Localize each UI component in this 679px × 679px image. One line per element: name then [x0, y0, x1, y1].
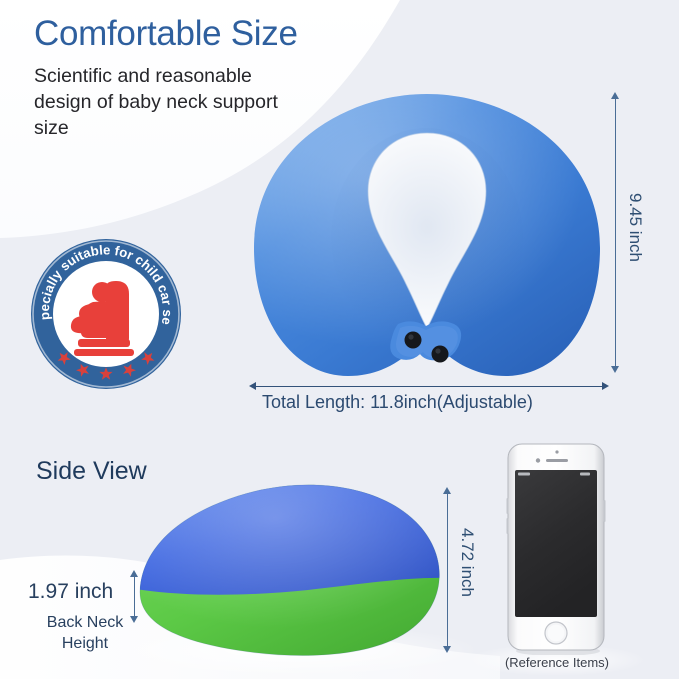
height-dimension-line	[615, 97, 616, 367]
height-dimension-label: 9.45 inch	[625, 193, 645, 262]
page-title: Comfortable Size	[34, 14, 298, 54]
length-dimension-label: Total Length: 11.8inch(Adjustable)	[262, 392, 533, 413]
phone-front-camera	[536, 458, 540, 462]
snap-button-right	[432, 346, 449, 363]
length-arrow-right	[602, 382, 609, 390]
reference-caption: (Reference Items)	[494, 655, 620, 670]
neck-pillow-side-view	[128, 478, 454, 660]
phone-sensor	[555, 450, 558, 453]
child-car-seat-badge: Especially suitable for child car seat	[30, 238, 182, 390]
infographic-page: Comfortable Size Scientific and reasonab…	[0, 0, 679, 679]
phone-earpiece	[546, 459, 568, 462]
side-height-dimension-line	[447, 492, 448, 647]
phone-status-left	[518, 473, 530, 476]
neck-pillow-top-view	[248, 88, 606, 390]
reference-phone	[504, 442, 608, 655]
side-height-arrow-bottom	[443, 646, 451, 653]
height-arrow-bottom	[611, 366, 619, 373]
back-neck-caption: Back Neck Height	[30, 612, 140, 654]
length-dimension-line	[255, 386, 603, 387]
snap-button-left	[405, 332, 422, 349]
phone-status-right	[580, 473, 590, 476]
phone-volume-down-button	[507, 518, 509, 534]
phone-volume-up-button	[507, 498, 509, 514]
phone-power-button	[604, 500, 606, 522]
phone-screen	[515, 470, 597, 617]
back-neck-value: 1.97 inch	[28, 580, 113, 604]
side-height-dimension-label: 4.72 inch	[457, 528, 477, 597]
back-neck-dimension-line	[134, 575, 135, 617]
